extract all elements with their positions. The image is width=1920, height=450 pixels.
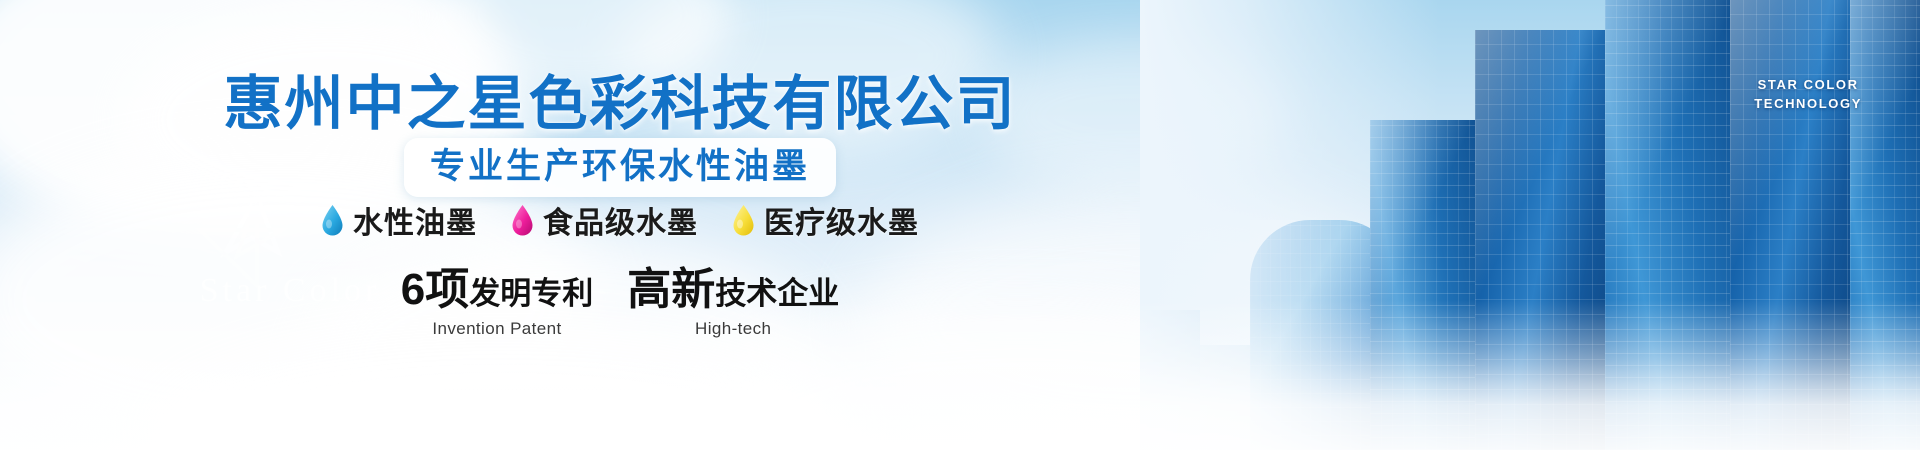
company-hero-banner: STAR COLOR TECHNOLOGY Star Color 惠州中之星色彩… <box>0 0 1920 450</box>
feature-item: 医疗级水墨 <box>732 198 919 242</box>
company-title: 惠州中之星色彩科技有限公司 <box>0 56 1240 141</box>
feature-label: 水性油墨 <box>353 198 477 242</box>
badge-chinese-secondary: 发明专利 <box>469 276 593 311</box>
badge-chinese-text: 高新技术企业 <box>627 265 839 316</box>
badge-list: 6项发明专利 Invention Patent 高新技术企业 High-tech <box>0 265 1240 339</box>
slogan-text: 专业生产环保水性油墨 <box>430 147 810 186</box>
badge-english-text: High-tech <box>627 319 839 339</box>
water-drop-icon <box>732 204 755 236</box>
badge-invention-patent: 6项发明专利 Invention Patent <box>401 265 593 339</box>
badge-chinese-text: 6项发明专利 <box>401 265 593 316</box>
badge-chinese-secondary: 技术企业 <box>715 276 839 311</box>
city-brand-line-1: STAR COLOR <box>1754 76 1862 95</box>
water-drop-icon <box>511 204 534 236</box>
banner-content: 惠州中之星色彩科技有限公司 专业生产环保水性油墨 水性油墨 <box>0 0 1240 450</box>
water-drop-icon <box>321 204 344 236</box>
slogan-pill: 专业生产环保水性油墨 <box>404 138 836 197</box>
badge-english-text: Invention Patent <box>401 319 593 339</box>
feature-label: 医疗级水墨 <box>764 198 919 242</box>
feature-list: 水性油墨 食品级水墨 <box>0 198 1240 242</box>
feature-item: 水性油墨 <box>321 198 477 242</box>
feature-label: 食品级水墨 <box>543 198 698 242</box>
city-brand-label: STAR COLOR TECHNOLOGY <box>1754 76 1862 114</box>
badge-chinese-primary: 高新 <box>627 265 715 314</box>
badge-chinese-primary: 6项 <box>401 265 469 314</box>
badge-high-tech: 高新技术企业 High-tech <box>627 265 839 339</box>
feature-item: 食品级水墨 <box>511 198 698 242</box>
city-brand-line-2: TECHNOLOGY <box>1754 95 1862 114</box>
